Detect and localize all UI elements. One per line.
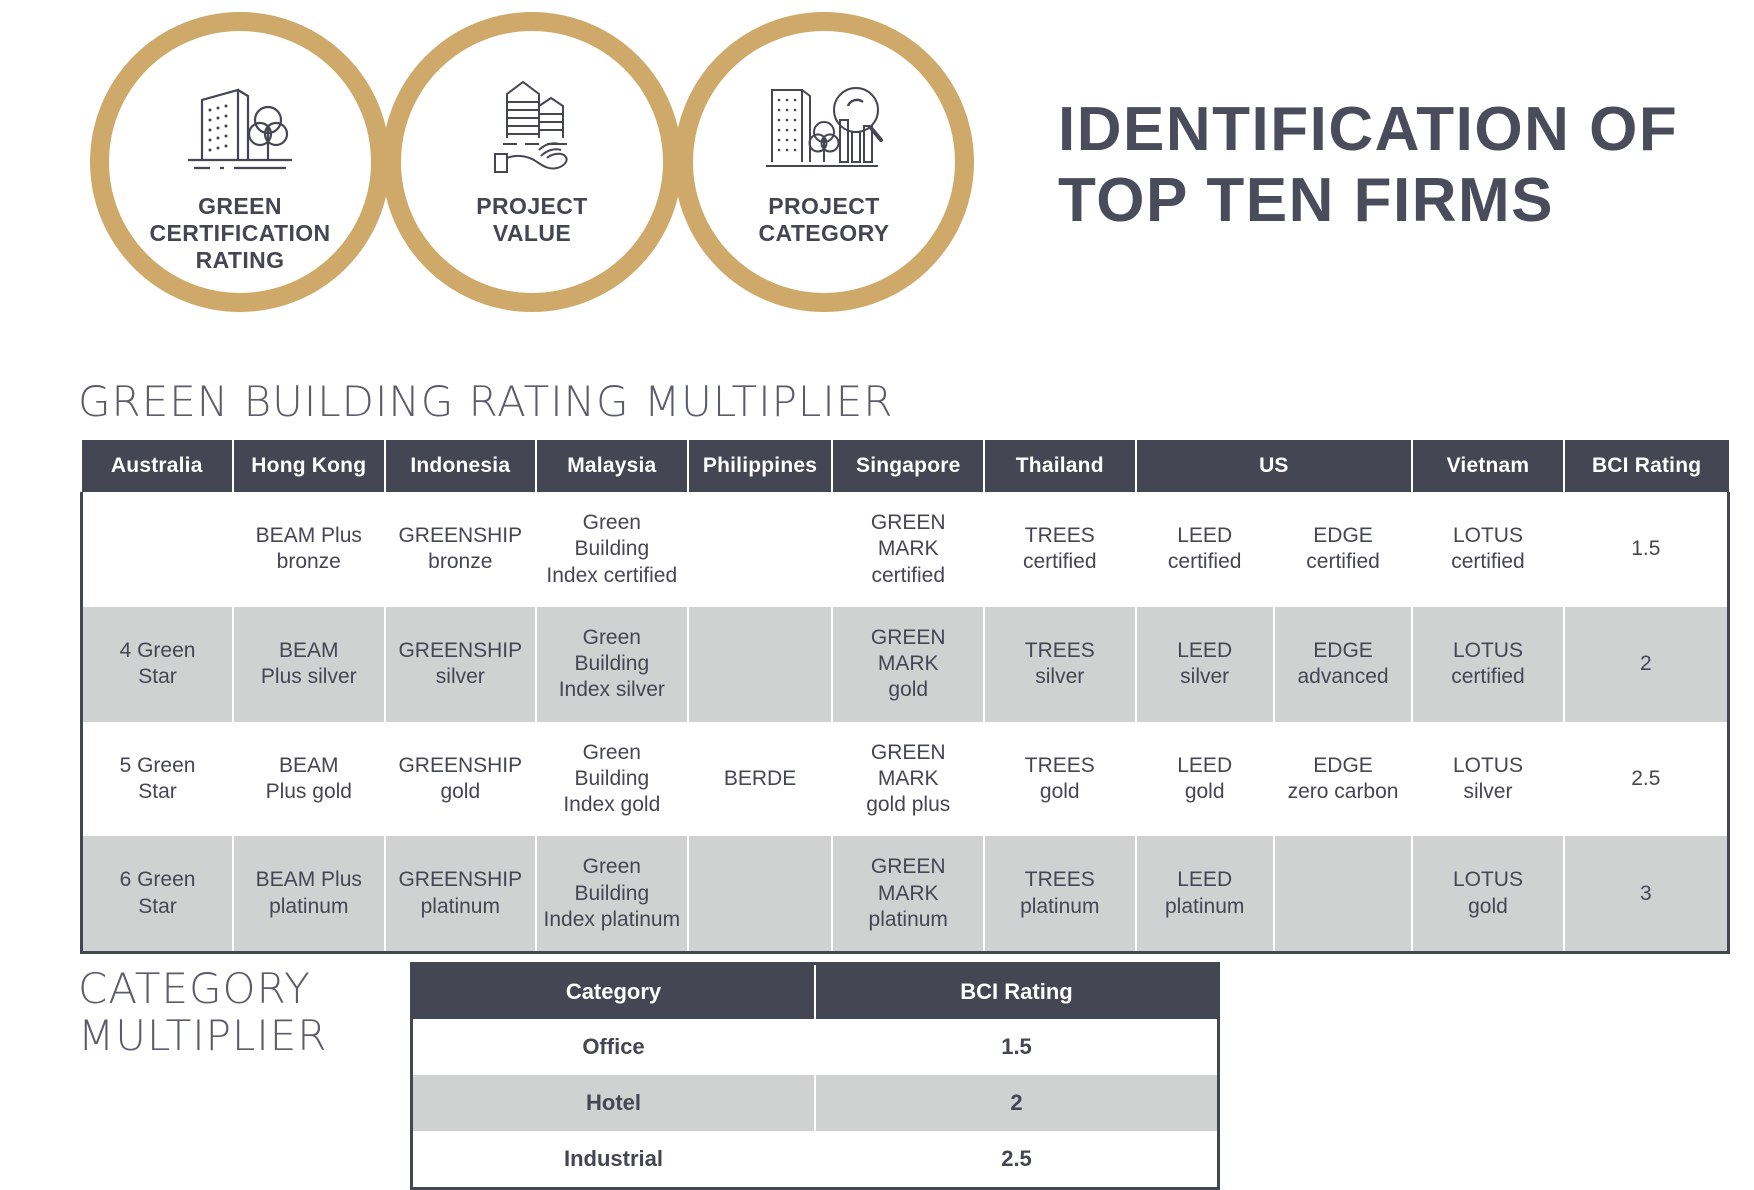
table-row: Industrial 2.5 bbox=[413, 1131, 1217, 1187]
cell-thailand: TREES certified bbox=[984, 492, 1136, 607]
column-header-philippines: Philippines bbox=[688, 440, 833, 492]
cell-us-leed: LEED gold bbox=[1136, 722, 1274, 837]
column-header-singapore: Singapore bbox=[832, 440, 984, 492]
building-chart-magnifier-icon bbox=[762, 73, 887, 183]
cell-singapore: GREEN MARK gold bbox=[832, 607, 984, 722]
cell-rating: 2 bbox=[815, 1075, 1217, 1131]
table-row: 5 Green Star BEAM Plus gold GREENSHIP go… bbox=[82, 722, 1729, 837]
cell-category: Industrial bbox=[413, 1131, 815, 1187]
cell-australia: 4 Green Star bbox=[82, 607, 234, 722]
cell-singapore: GREEN MARK gold plus bbox=[832, 722, 984, 837]
building-tree-icon bbox=[180, 73, 300, 183]
cell-singapore: GREEN MARK platinum bbox=[832, 836, 984, 952]
table-row: 6 Green Star BEAM Plus platinum GREENSHI… bbox=[82, 836, 1729, 952]
green-building-rating-multiplier-table: Australia Hong Kong Indonesia Malaysia P… bbox=[80, 440, 1730, 954]
cell-vietnam: LOTUS certified bbox=[1412, 607, 1564, 722]
cell-us-edge: EDGE certified bbox=[1274, 492, 1412, 607]
cell-vietnam: LOTUS silver bbox=[1412, 722, 1564, 837]
cell-bci-rating: 2.5 bbox=[1564, 722, 1729, 837]
cell-bci-rating: 3 bbox=[1564, 836, 1729, 952]
infographic-header: GREEN CERTIFICATION RATING PROJECT VALUE bbox=[0, 0, 1754, 340]
column-header-thailand: Thailand bbox=[984, 440, 1136, 492]
cell-us-edge: EDGE advanced bbox=[1274, 607, 1412, 722]
column-header-vietnam: Vietnam bbox=[1412, 440, 1564, 492]
cell-philippines: BERDE bbox=[688, 722, 833, 837]
cell-malaysia: Green Building Index platinum bbox=[536, 836, 688, 952]
cell-hong-kong: BEAM Plus bronze bbox=[233, 492, 385, 607]
cell-hong-kong: BEAM Plus silver bbox=[233, 607, 385, 722]
column-header-indonesia: Indonesia bbox=[385, 440, 537, 492]
cell-indonesia: GREENSHIP platinum bbox=[385, 836, 537, 952]
table-row: Hotel 2 bbox=[413, 1075, 1217, 1131]
category-table-header-row: Category BCI Rating bbox=[413, 965, 1217, 1019]
column-header-bci-rating: BCI Rating bbox=[1564, 440, 1729, 492]
cell-us-leed: LEED platinum bbox=[1136, 836, 1274, 952]
cell-rating: 1.5 bbox=[815, 1019, 1217, 1075]
hand-towers-icon bbox=[477, 73, 587, 183]
cell-malaysia: Green Building Index certified bbox=[536, 492, 688, 607]
circle-label: PROJECT CATEGORY bbox=[759, 193, 890, 247]
cell-philippines bbox=[688, 492, 833, 607]
cell-thailand: TREES platinum bbox=[984, 836, 1136, 952]
column-header-category: Category bbox=[413, 965, 815, 1019]
category-multiplier-title: CATEGORY MULTIPLIER bbox=[78, 965, 327, 1059]
cell-us-leed: LEED silver bbox=[1136, 607, 1274, 722]
cell-bci-rating: 1.5 bbox=[1564, 492, 1729, 607]
cell-hong-kong: BEAM Plus platinum bbox=[233, 836, 385, 952]
cell-thailand: TREES silver bbox=[984, 607, 1136, 722]
circle-label: PROJECT VALUE bbox=[476, 193, 587, 247]
column-header-us: US bbox=[1136, 440, 1413, 492]
cell-category: Hotel bbox=[413, 1075, 815, 1131]
green-building-rating-multiplier-title: GREEN BUILDING RATING MULTIPLIER bbox=[78, 380, 893, 424]
column-header-australia: Australia bbox=[82, 440, 234, 492]
table-row: BEAM Plus bronze GREENSHIP bronze Green … bbox=[82, 492, 1729, 607]
cell-us-edge bbox=[1274, 836, 1412, 952]
cell-us-leed: LEED certified bbox=[1136, 492, 1274, 607]
cell-australia: 5 Green Star bbox=[82, 722, 234, 837]
circle-project-category: PROJECT CATEGORY bbox=[674, 12, 974, 312]
cell-bci-rating: 2 bbox=[1564, 607, 1729, 722]
column-header-malaysia: Malaysia bbox=[536, 440, 688, 492]
cell-vietnam: LOTUS gold bbox=[1412, 836, 1564, 952]
column-header-hong-kong: Hong Kong bbox=[233, 440, 385, 492]
circle-project-value: PROJECT VALUE bbox=[382, 12, 682, 312]
cell-malaysia: Green Building Index silver bbox=[536, 607, 688, 722]
table-row: Office 1.5 bbox=[413, 1019, 1217, 1075]
cell-australia bbox=[82, 492, 234, 607]
circle-label: GREEN CERTIFICATION RATING bbox=[149, 193, 330, 274]
cell-philippines bbox=[688, 607, 833, 722]
cell-australia: 6 Green Star bbox=[82, 836, 234, 952]
column-header-bci-rating: BCI Rating bbox=[815, 965, 1217, 1019]
cell-vietnam: LOTUS certified bbox=[1412, 492, 1564, 607]
cell-philippines bbox=[688, 836, 833, 952]
cell-indonesia: GREENSHIP gold bbox=[385, 722, 537, 837]
cell-rating: 2.5 bbox=[815, 1131, 1217, 1187]
cell-malaysia: Green Building Index gold bbox=[536, 722, 688, 837]
circle-green-certification-rating: GREEN CERTIFICATION RATING bbox=[90, 12, 390, 312]
cell-indonesia: GREENSHIP bronze bbox=[385, 492, 537, 607]
cell-thailand: TREES gold bbox=[984, 722, 1136, 837]
table-header-row: Australia Hong Kong Indonesia Malaysia P… bbox=[82, 440, 1729, 492]
cell-category: Office bbox=[413, 1019, 815, 1075]
cell-singapore: GREEN MARK certified bbox=[832, 492, 984, 607]
category-multiplier-table: Category BCI Rating Office 1.5 Hotel 2 I… bbox=[410, 962, 1220, 1190]
cell-hong-kong: BEAM Plus gold bbox=[233, 722, 385, 837]
cell-indonesia: GREENSHIP silver bbox=[385, 607, 537, 722]
cell-us-edge: EDGE zero carbon bbox=[1274, 722, 1412, 837]
page-title: IDENTIFICATION OF TOP TEN FIRMS bbox=[1058, 95, 1738, 236]
table-row: 4 Green Star BEAM Plus silver GREENSHIP … bbox=[82, 607, 1729, 722]
